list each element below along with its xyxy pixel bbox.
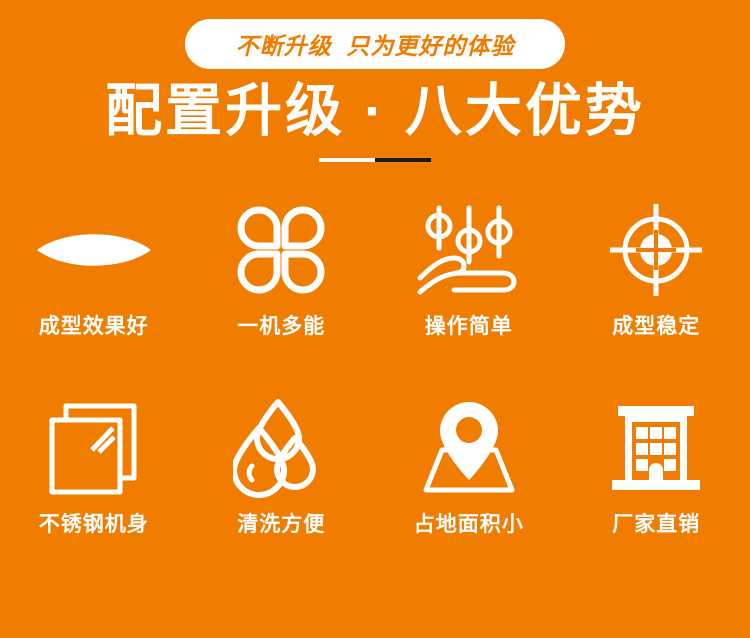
header-badge-container: 不断升级 只为更好的体验 <box>0 19 750 69</box>
four-petal-clover-icon <box>235 196 327 304</box>
feature-label: 成型稳定 <box>612 310 700 340</box>
feature-item-stainless-body: 不锈钢机身 <box>0 394 188 546</box>
feature-label: 操作简单 <box>425 310 513 340</box>
feature-label: 清洗方便 <box>237 508 325 538</box>
title-divider <box>0 158 750 162</box>
feature-label: 占地面积小 <box>414 508 524 538</box>
feature-grid: 成型效果好 一机多能 <box>0 196 750 546</box>
feature-item-easy-operation: 操作简单 <box>375 196 563 348</box>
page-title-container: 配置升级 · 八大优势 <box>0 78 750 144</box>
water-droplets-icon <box>233 394 329 502</box>
header-badge-pill: 不断升级 只为更好的体验 <box>185 19 565 69</box>
lens-shape-icon <box>35 196 153 304</box>
feature-item-small-footprint: 占地面积小 <box>375 394 563 546</box>
title-divider-dark-half <box>375 158 431 162</box>
feature-item-stable-forming: 成型稳定 <box>563 196 750 348</box>
feature-item-forming-effect: 成型效果好 <box>0 196 188 348</box>
page-title: 配置升级 · 八大优势 <box>0 78 750 144</box>
feature-label: 一机多能 <box>237 310 325 340</box>
title-divider-light-half <box>319 158 375 162</box>
feature-item-easy-cleaning: 清洗方便 <box>188 394 376 546</box>
feature-label: 成型效果好 <box>39 310 149 340</box>
crosshair-target-icon <box>606 196 706 304</box>
header-badge-text: 不断升级 只为更好的体验 <box>236 27 515 61</box>
feature-label: 不锈钢机身 <box>39 508 149 538</box>
factory-building-icon <box>608 394 704 502</box>
feature-item-multi-function: 一机多能 <box>188 196 376 348</box>
map-pin-icon <box>414 394 524 502</box>
title-divider-inner <box>319 158 431 162</box>
feature-item-factory-direct: 厂家直销 <box>563 394 750 546</box>
stacked-panels-icon <box>46 394 142 502</box>
hand-sliders-icon <box>414 196 524 304</box>
feature-label: 厂家直销 <box>612 508 700 538</box>
